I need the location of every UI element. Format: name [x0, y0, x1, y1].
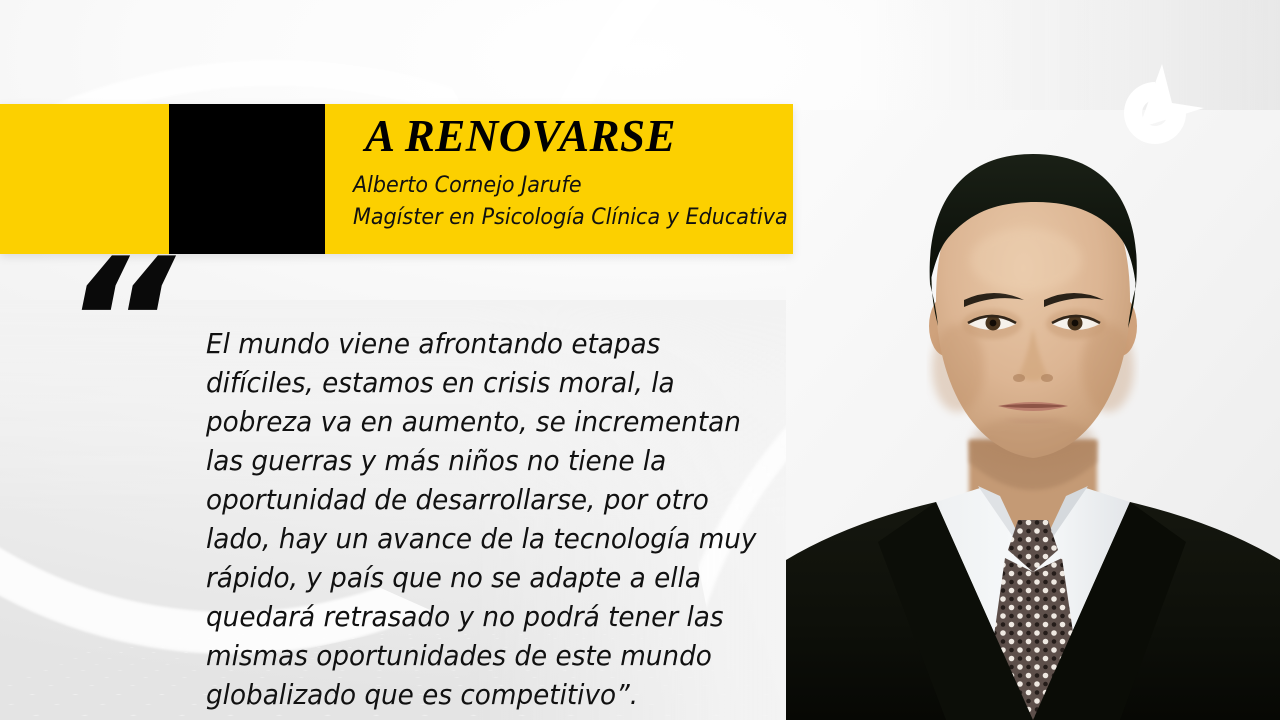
quote-line: lado, hay un avance de la tecnología muy — [206, 520, 760, 559]
banner-text-group: A RENOVARSE Alberto Cornejo Jarufe Magís… — [347, 104, 793, 254]
author-block: Alberto Cornejo Jarufe Magíster en Psico… — [353, 170, 788, 234]
author-name: Alberto Cornejo Jarufe — [353, 170, 788, 202]
quote-line: El mundo viene afrontando etapas — [206, 325, 760, 364]
quotation-mark-icon: “ — [62, 236, 175, 411]
quote-line: difíciles, estamos en crisis moral, la — [206, 364, 760, 403]
author-credential: Magíster en Psicología Clínica y Educati… — [353, 202, 788, 234]
quote-line: pobreza va en aumento, se incrementan — [206, 403, 760, 442]
portrait-illustration — [786, 110, 1280, 720]
circular-arrow-logo — [1098, 56, 1208, 160]
quote-text: El mundo viene afrontando etapas difícil… — [206, 325, 760, 715]
portrait-photo — [786, 110, 1280, 720]
quote-line: las guerras y más niños no tiene la — [206, 442, 760, 481]
quote-line: mismas oportunidades de este mundo — [206, 637, 760, 676]
quote-line: oportunidad de desarrollarse, por otro — [206, 481, 760, 520]
page-title: A RENOVARSE — [365, 114, 676, 159]
slide-canvas: A RENOVARSE Alberto Cornejo Jarufe Magís… — [0, 0, 1280, 720]
quote-line: quedará retrasado y no podrá tener las — [206, 598, 760, 637]
banner-black-block — [169, 104, 325, 254]
quote-line: rápido, y país que no se adapte a ella — [206, 559, 760, 598]
quote-line: globalizado que es competitivo”. — [206, 676, 760, 715]
